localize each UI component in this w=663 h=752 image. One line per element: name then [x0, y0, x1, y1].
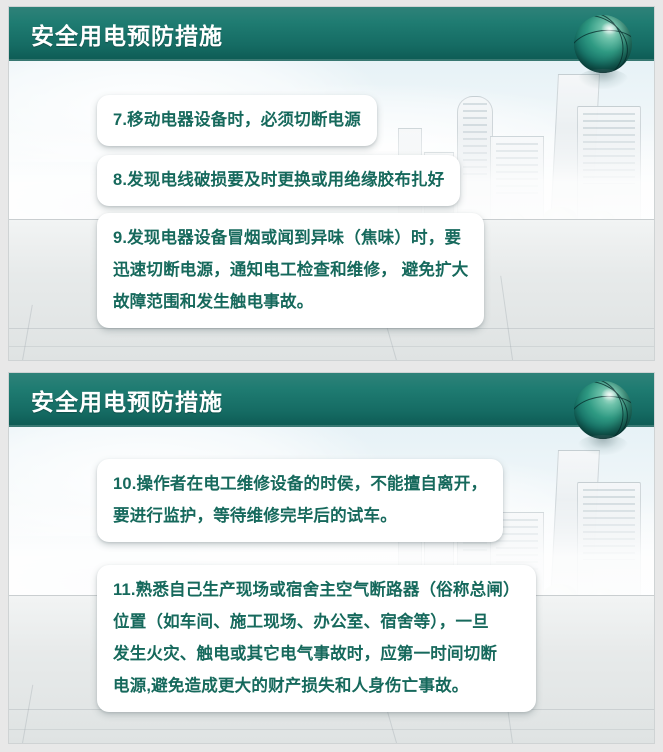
sphere-highlight	[601, 388, 618, 401]
tip-line: 电源,避免造成更大的财产损失和人身伤亡事故。	[113, 670, 520, 702]
sphere-reflection	[578, 435, 628, 455]
slide-1-title-bar: 安全用电预防措施	[9, 7, 654, 61]
tip-line: 要进行监护，等待维修完毕后的试车。	[113, 500, 487, 532]
sphere-logo-icon	[574, 15, 632, 73]
page-title: 安全用电预防措施	[31, 17, 223, 51]
tip-line: 故障范围和发生触电事故。	[113, 286, 468, 318]
sphere-logo	[574, 15, 636, 93]
tip-line: 10.操作者在电工维修设备的时侯，不能擅自离开，	[113, 468, 487, 500]
slide-deck: 安全用电预防措施 7.移动电器设备时，必须切断电源 8.发现电线破损要及时更换或…	[0, 0, 663, 752]
pavement-line	[9, 328, 654, 329]
tip-item-11: 11.熟悉自己生产现场或宿舍主空气断路器（俗称总闸） 位置（如车间、施工现场、办…	[97, 565, 536, 712]
tip-line: 11.熟悉自己生产现场或宿舍主空气断路器（俗称总闸）	[113, 574, 520, 606]
pavement-line	[9, 346, 654, 347]
pavement-line	[9, 729, 654, 730]
tip-line: 位置（如车间、施工现场、办公室、宿舍等），一旦	[113, 606, 520, 638]
pavement-line	[22, 304, 33, 360]
tip-line: 迅速切断电源，通知电工检查和维修， 避免扩大	[113, 254, 468, 286]
tip-item-9: 9.发现电器设备冒烟或闻到异味（焦味）时，要 迅速切断电源，通知电工检查和维修，…	[97, 213, 484, 328]
pavement-line	[22, 685, 33, 743]
tip-line: 7.移动电器设备时，必须切断电源	[113, 104, 361, 136]
slide-2: 安全用电预防措施 10.操作者在电工维修设备的时侯，不能擅自离开， 要进行监护，…	[8, 372, 655, 744]
sphere-reflection	[578, 69, 628, 89]
slide-1: 安全用电预防措施 7.移动电器设备时，必须切断电源 8.发现电线破损要及时更换或…	[8, 6, 655, 361]
tip-line: 发生火灾、触电或其它电气事故时，应第一时间切断	[113, 638, 520, 670]
tip-item-7: 7.移动电器设备时，必须切断电源	[97, 95, 377, 146]
tip-line: 9.发现电器设备冒烟或闻到异味（焦味）时，要	[113, 222, 468, 254]
sphere-highlight	[601, 22, 618, 35]
tip-line: 8.发现电线破损要及时更换或用绝缘胶布扎好	[113, 164, 444, 196]
sphere-logo-icon	[574, 381, 632, 439]
sphere-logo	[574, 381, 636, 459]
page-title: 安全用电预防措施	[31, 383, 223, 417]
tip-item-10: 10.操作者在电工维修设备的时侯，不能擅自离开， 要进行监护，等待维修完毕后的试…	[97, 459, 503, 542]
tip-item-8: 8.发现电线破损要及时更换或用绝缘胶布扎好	[97, 155, 460, 206]
pavement-line	[500, 276, 513, 360]
slide-2-title-bar: 安全用电预防措施	[9, 373, 654, 427]
